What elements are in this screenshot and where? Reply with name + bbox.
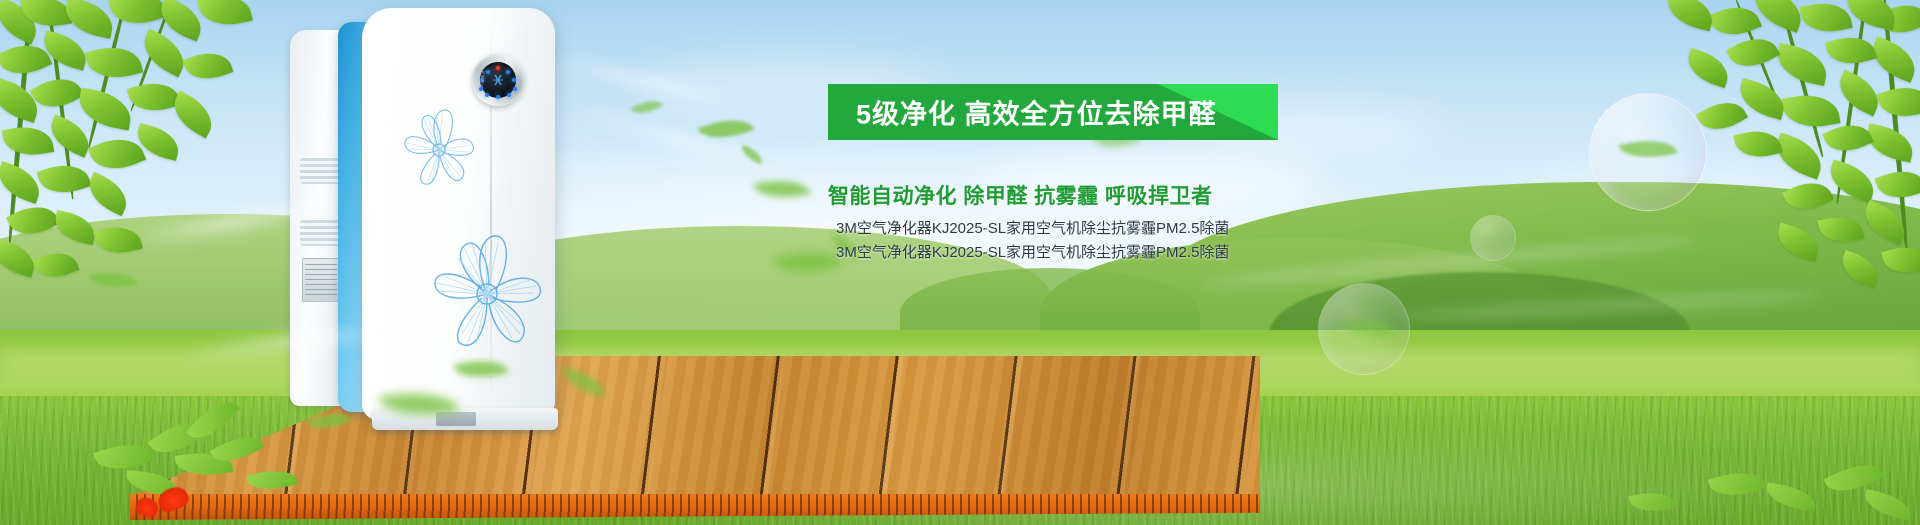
purifier-base-notch	[436, 412, 476, 426]
subtitle-text: 智能自动净化 除甲醛 抗雾霾 呼吸捍卫者	[828, 180, 1213, 210]
headline-text: 5级净化 高效全方位去除甲醛	[856, 93, 1217, 132]
status-led-indicator	[513, 87, 517, 91]
soap-bubble	[1470, 215, 1516, 261]
status-led-indicator	[507, 93, 511, 97]
status-led-indicator	[506, 70, 510, 74]
purifier-gloss-highlight	[368, 14, 430, 412]
purifier-spec-label-text	[305, 264, 337, 296]
headline-banner: 5级净化 高效全方位去除甲醛	[828, 84, 1278, 140]
deck-edge-slats	[130, 494, 1260, 520]
status-led-indicator	[496, 95, 500, 99]
status-led-indicator	[485, 93, 489, 97]
power-led-indicator	[496, 66, 500, 70]
promotional-banner: 自动模式 风速	[0, 0, 1920, 525]
flower-decal-lower	[428, 230, 546, 358]
flower-decal-upper	[400, 106, 478, 192]
product-description-line: 3M空气净化器KJ2025-SL家用空气机除尘抗雾霾PM2.5除菌	[836, 217, 1229, 241]
air-purifier-product: 自动模式 风速	[290, 8, 555, 418]
product-description-list: 3M空气净化器KJ2025-SL家用空气机除尘抗雾霾PM2.5除菌 3M空气净化…	[836, 217, 1229, 265]
panel-mark-right: 风速	[515, 74, 522, 84]
product-description-line: 3M空气净化器KJ2025-SL家用空气机除尘抗雾霾PM2.5除菌	[836, 241, 1229, 265]
snowflake-icon	[493, 75, 503, 85]
